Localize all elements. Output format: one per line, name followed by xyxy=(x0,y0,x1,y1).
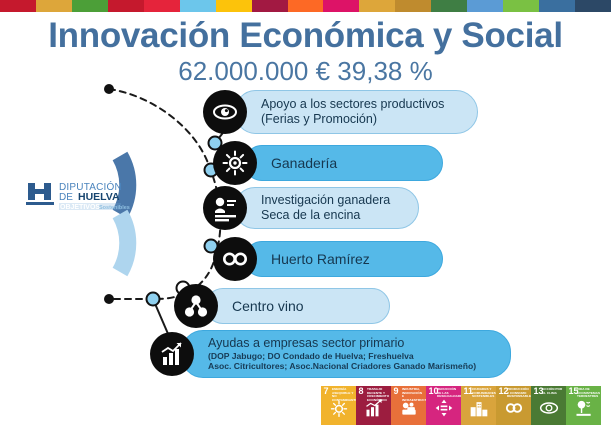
eye-icon xyxy=(203,90,247,134)
page-subtitle-amount: 62.000.000 € 39,38 % xyxy=(0,56,611,87)
sdg-tile-caption: ACCIÓN POR EL CLIMA xyxy=(542,388,565,395)
sdg-tile-number: 7 xyxy=(324,387,329,396)
sdg-tile-number: 8 xyxy=(359,387,364,396)
logo-mark-h xyxy=(26,183,54,205)
infinity-icon xyxy=(503,398,525,423)
sdg-bar-segment-17 xyxy=(575,0,611,12)
equals-arrows-icon xyxy=(433,398,455,423)
sdg-bar-segment-10 xyxy=(323,0,359,12)
sdg-tile-8[interactable]: 8TRABAJO DECENTE Y CRECIMIENTO ECONÓMICO xyxy=(356,386,391,425)
sdg-bar-segment-7 xyxy=(216,0,252,12)
list-item[interactable]: Ganadería xyxy=(213,141,443,185)
sdg-bar-segment-13 xyxy=(431,0,467,12)
sdg-tile-9[interactable]: 9INDUSTRIA, INNOVACIÓN E INFRAESTRUCTURA xyxy=(391,386,426,425)
sdg-bar-segment-12 xyxy=(395,0,431,12)
sdg-tile-11[interactable]: 11CIUDADES Y COMUNIDADES SOSTENIBLES xyxy=(461,386,496,425)
logo-line-sostenibles: Sostenibles xyxy=(99,205,130,211)
list-item-label-line1: Ganadería xyxy=(271,156,426,171)
list-item-label-line1: Apoyo a los sectores productivos xyxy=(261,97,461,112)
brand-arc-decoration xyxy=(60,150,210,280)
sdg-tile-caption: REDUCCIÓN DE LAS DESIGUALDADES xyxy=(437,388,460,399)
list-item[interactable]: Apoyo a los sectores productivos (Ferias… xyxy=(203,90,478,134)
sun-icon xyxy=(328,398,350,423)
sdg-bar-segment-16 xyxy=(539,0,575,12)
list-item-pill[interactable]: Huerto Ramírez xyxy=(244,241,443,277)
list-item-label-line1: Investigación ganadera xyxy=(261,193,402,208)
list-item-label-line2: Seca de la encina xyxy=(261,208,402,223)
list-item-label-line2: (DOP Jabugo; DO Condado de Huelva; Fresh… xyxy=(208,351,494,362)
sdg-tile-7[interactable]: 7ENERGÍA ASEQUIBLE Y NO CONTAMINANTE xyxy=(321,386,356,425)
list-item-label-line3: Asoc. Citricultores; Asoc.Nacional Criad… xyxy=(208,361,494,372)
sdg-bar-segment-15 xyxy=(503,0,539,12)
list-item-label-line1: Ayudas a empresas sector primario xyxy=(208,336,494,351)
network-share-icon xyxy=(174,284,218,328)
sdg-tile-caption: VIDA DE ECOSISTEMAS TERRESTRES xyxy=(577,388,600,399)
list-item-label-line1: Huerto Ramírez xyxy=(271,252,426,267)
sdg-goal-tiles: 7ENERGÍA ASEQUIBLE Y NO CONTAMINANTE8TRA… xyxy=(321,386,601,425)
sdg-tile-caption: PRODUCCIÓN Y CONSUMO RESPONSABLES xyxy=(507,388,530,399)
sdg-tile-15[interactable]: 15VIDA DE ECOSISTEMAS TERRESTRES xyxy=(566,386,601,425)
sdg-tile-caption: CIUDADES Y COMUNIDADES SOSTENIBLES xyxy=(472,388,495,399)
sdg-tile-12[interactable]: 12PRODUCCIÓN Y CONSUMO RESPONSABLES xyxy=(496,386,531,425)
list-item-label-line1: Centro vino xyxy=(232,299,373,314)
sdg-bar-segment-2 xyxy=(36,0,72,12)
list-item-pill[interactable]: Ayudas a empresas sector primario (DOP J… xyxy=(181,330,511,378)
slide-canvas: Innovación Económica y Social 62.000.000… xyxy=(0,0,611,432)
sdg-bar-segment-11 xyxy=(359,0,395,12)
diputacion-huelva-logo: DIPUTACIÓN DE HUELVA OBJETIVOS Sostenibl… xyxy=(26,179,144,213)
city-icon xyxy=(468,398,490,423)
list-item[interactable]: Huerto Ramírez xyxy=(213,237,443,281)
sdg-tile-13[interactable]: 13ACCIÓN POR EL CLIMA xyxy=(531,386,566,425)
growth-chart-icon xyxy=(150,332,194,376)
sun-gear-icon xyxy=(213,141,257,185)
research-document-icon xyxy=(203,186,247,230)
page-title: Innovación Económica y Social xyxy=(0,16,611,56)
sdg-tile-number: 9 xyxy=(394,387,399,396)
growth-chart-icon xyxy=(363,398,385,423)
logo-line-huelva: HUELVA xyxy=(78,191,120,203)
logo-line-de: DE xyxy=(59,192,73,203)
sdg-bar-segment-6 xyxy=(180,0,216,12)
list-item[interactable]: Ayudas a empresas sector primario (DOP J… xyxy=(150,330,511,378)
list-item-pill[interactable]: Investigación ganadera Seca de la encina xyxy=(234,187,419,229)
list-item[interactable]: Investigación ganadera Seca de la encina xyxy=(203,186,419,230)
sdg-bar-segment-14 xyxy=(467,0,503,12)
list-item-pill[interactable]: Apoyo a los sectores productivos (Ferias… xyxy=(234,90,478,134)
tree-birds-icon xyxy=(573,398,595,423)
list-item[interactable]: Centro vino xyxy=(174,284,390,328)
sdg-bar-segment-3 xyxy=(72,0,108,12)
sdg-bar-segment-9 xyxy=(288,0,324,12)
sdg-bar-segment-8 xyxy=(252,0,288,12)
list-item-pill[interactable]: Ganadería xyxy=(244,145,443,181)
sdg-bar-segment-1 xyxy=(0,0,36,12)
gears-cube-icon xyxy=(398,398,420,423)
infinity-icon xyxy=(213,237,257,281)
eye-globe-icon xyxy=(538,398,560,423)
sdg-tile-10[interactable]: 10REDUCCIÓN DE LAS DESIGUALDADES xyxy=(426,386,461,425)
sdg-color-bar xyxy=(0,0,611,12)
logo-line-objetivos: OBJETIVOS xyxy=(60,204,100,211)
sdg-bar-segment-4 xyxy=(108,0,144,12)
list-item-pill[interactable]: Centro vino xyxy=(205,288,390,324)
sdg-bar-segment-5 xyxy=(144,0,180,12)
list-item-label-line2: (Ferias y Promoción) xyxy=(261,112,461,127)
